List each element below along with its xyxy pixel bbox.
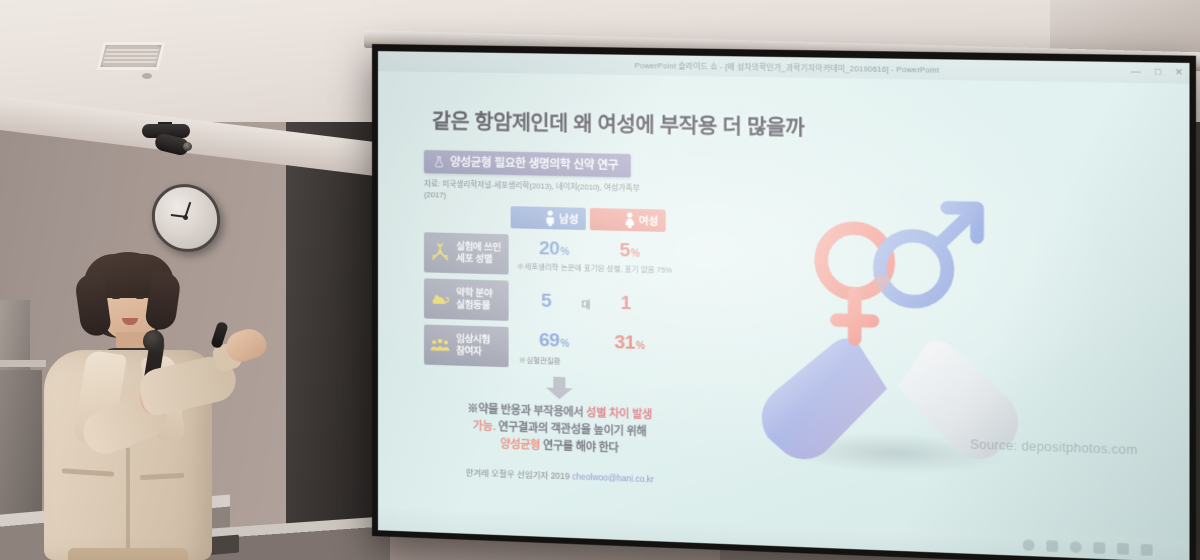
value-female-number: 31 [614, 332, 635, 354]
row-label-clinical-trials: 임상시험 참여자 [424, 325, 509, 368]
value-male-number: 5 [541, 291, 551, 312]
sorter-view-icon[interactable] [1093, 542, 1105, 554]
value-female-suffix: % [636, 341, 645, 352]
citation: 자료: 미국생리학저널-세포생리학(2013), 네이처(2010), 여성가족… [424, 178, 647, 205]
row-values: 5 대 1 [509, 281, 697, 327]
value-male-suffix: % [560, 339, 569, 350]
people-icon [429, 334, 451, 357]
column-header-male: 남성 [511, 206, 586, 230]
row-note: ※심혈관질환 [517, 354, 697, 371]
credit-email[interactable]: cheolwoo@hani.co.kr [572, 471, 654, 484]
row-label-line2: 세포 성별 [456, 253, 501, 266]
column-header-female: 여성 [590, 208, 666, 232]
row-label-line1: 약학 분야 [456, 287, 492, 300]
row-label-text: 약학 분야 실험동물 [456, 287, 492, 312]
column-header-female-label: 여성 [639, 213, 659, 229]
row-label-text: 실험에 쓰인 세포 성별 [456, 241, 501, 266]
minimize-icon[interactable]: — [1131, 67, 1141, 77]
male-symbol [880, 206, 977, 303]
row-label-cells: 실험에 쓰인 세포 성별 [424, 232, 509, 274]
table-header-row: 남성 여성 [511, 206, 697, 233]
infographic-banner: 양성균형 필요한 생명의학 신약 연구 [424, 150, 631, 177]
column-header-male-label: 남성 [559, 211, 579, 227]
row-values: 69% 31% ※심혈관질환 [509, 327, 697, 373]
normal-view-icon[interactable] [1070, 541, 1082, 553]
value-female-number: 5 [620, 240, 630, 262]
flask-icon [433, 155, 445, 168]
conclusion-line1-plain: ※약물 반응과 부작용에서 [467, 403, 586, 419]
mouse-icon [429, 288, 451, 311]
table-row: 약학 분야 실험동물 5 대 [424, 278, 697, 326]
camera-glass [183, 142, 192, 151]
row-label-line2: 참여자 [456, 346, 490, 359]
conclusion-line3-plain: 연구를 해야 한다 [540, 440, 618, 455]
conclusion-line3-highlight: 양성균형 [500, 439, 540, 452]
female-person-icon [623, 212, 635, 229]
value-male-number: 20 [539, 238, 559, 260]
reading-view-icon[interactable] [1117, 542, 1129, 554]
male-person-icon [544, 210, 556, 226]
window-title: PowerPoint 슬라이드 쇼 - [왜 성차의학인가_과학기자아카데미_2… [635, 59, 939, 75]
conclusion-line1-highlight: 성별 차이 발생 [586, 407, 652, 421]
comments-icon[interactable] [1046, 540, 1058, 552]
value-male: 69% [517, 329, 592, 353]
row-values: 20% 5% ※세포생리학 논문에 표기된 성별, 표기 없음 75% [509, 234, 697, 279]
row-label-line1: 임상시험 [456, 333, 490, 346]
slideshow-icon[interactable] [1141, 543, 1153, 555]
window-controls: — □ ✕ [1131, 62, 1183, 82]
banner-label: 양성균형 필요한 생명의학 신약 연구 [450, 154, 618, 174]
value-male: 5 [517, 290, 576, 314]
value-male: 20% [517, 237, 592, 261]
conclusion-line2-plain: 연구결과의 객관성을 높이기 위해 [495, 421, 646, 438]
conclusion-text: ※약물 반응과 부작용에서 성별 차이 발생 가능. 연구결과의 객관성을 높이… [424, 400, 697, 461]
down-arrow-icon [542, 376, 577, 399]
presenter [28, 252, 268, 560]
row-note: ※세포생리학 논문에 표기된 성별, 표기 없음 75% [517, 261, 697, 276]
ratio-separator: 대 [576, 297, 596, 312]
row-label-line1: 실험에 쓰인 [456, 241, 501, 254]
ceiling-vent-icon [97, 42, 166, 70]
value-female: 1 [596, 292, 655, 316]
value-male-number: 69 [539, 330, 559, 352]
value-male-suffix: % [560, 246, 569, 257]
slide-content: 같은 항암제인데 왜 여성에 부작용 더 많을까 양성균형 필요한 생명의학 신… [378, 71, 1190, 539]
maximize-icon[interactable]: □ [1155, 67, 1161, 76]
value-female: 31% [592, 331, 668, 356]
value-female-suffix: % [631, 248, 640, 259]
row-label-lab-animals: 약학 분야 실험동물 [424, 278, 509, 321]
slide-artwork-area: Source: depositphotos.com [697, 155, 1162, 504]
value-female: 5% [592, 239, 668, 263]
ceiling-fixture [142, 73, 152, 79]
conclusion-line2-highlight: 가능. [473, 420, 496, 433]
slide-title: 같은 항암제인데 왜 여성에 부작용 더 많을까 [432, 104, 1161, 148]
projection-screen: PowerPoint 슬라이드 쇼 - [왜 성차의학인가_과학기자아카데미_2… [372, 44, 1196, 560]
close-icon[interactable]: ✕ [1175, 67, 1183, 77]
table-row: 실험에 쓰인 세포 성별 20% [424, 232, 697, 279]
value-female-number: 1 [620, 293, 630, 315]
row-label-line2: 실험동물 [456, 299, 492, 312]
notes-icon[interactable] [1023, 539, 1035, 551]
table-row: 임상시험 참여자 69% [424, 325, 697, 374]
screenshot-root: PowerPoint 슬라이드 쇼 - [왜 성차의학인가_과학기자아카데미_2… [0, 0, 1200, 560]
row-label-text: 임상시험 참여자 [456, 333, 490, 358]
infographic: 양성균형 필요한 생명의학 신약 연구 자료: 미국생리학저널-세포생리학(20… [424, 150, 697, 487]
data-table: 남성 여성 [424, 204, 697, 373]
credit-line: 한겨레 오철우 선임기자 2019 cheolwoo@hani.co.kr [424, 465, 697, 487]
credit-text: 한겨레 오철우 선임기자 2019 [466, 468, 572, 482]
cells-icon [429, 241, 451, 264]
